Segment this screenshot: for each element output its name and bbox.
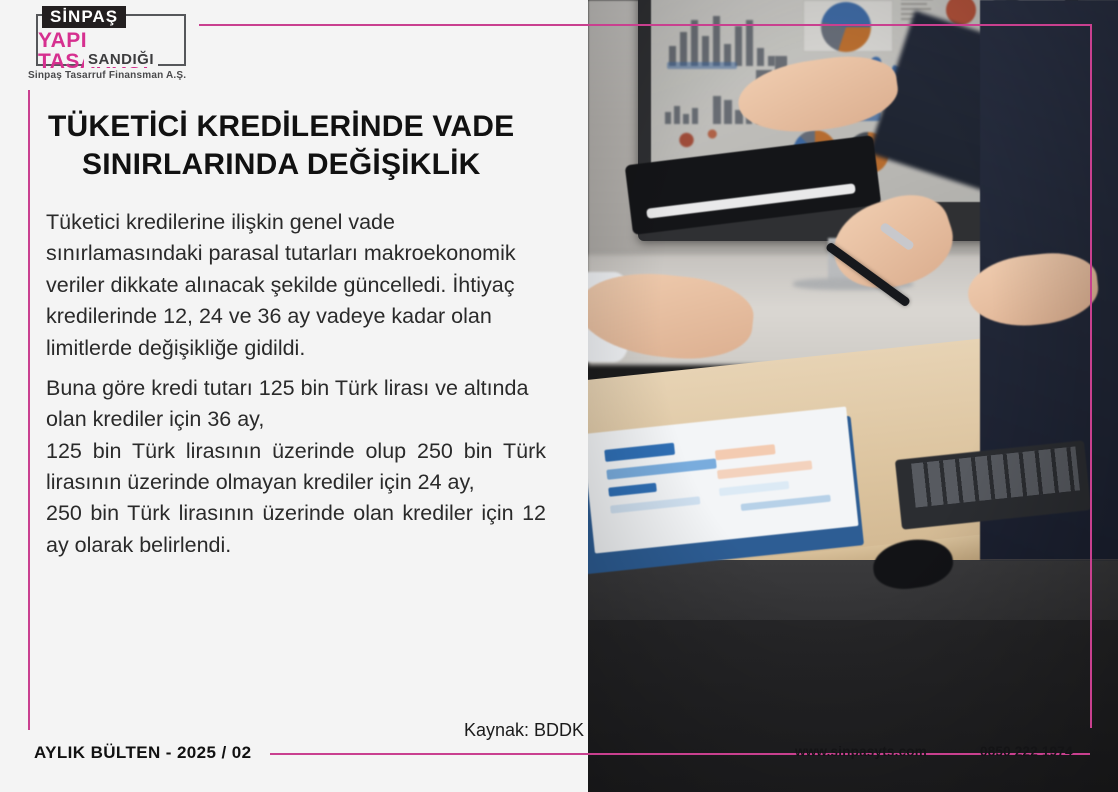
sinpas-logo: SİNPAŞ YAPI TASARRUF SANDIĞI Sinpaş Tasa… [28,10,198,82]
body-paragraph-2b: 125 bin Türk lirasının üzerinde olup 250… [46,436,546,499]
accent-line-right [1090,24,1092,728]
footer-website[interactable]: www.sinpasyts.com [795,744,927,759]
body-paragraph-1: Tüketici kredilerine ilişkin genel vade … [46,207,546,364]
office-desk-photo [588,0,1118,792]
source-label: Kaynak: BDDK [384,720,584,741]
bulletin-label: AYLIK BÜLTEN - 2025 / 02 [34,743,251,763]
footer-phone[interactable]: 0850 222 1974 [980,744,1073,759]
accent-line-bottom [270,753,1090,755]
photo-vignette [588,0,1118,792]
body-text: Tüketici kredilerine ilişkin genel vade … [46,207,546,561]
bulletin-slide: SİNPAŞ YAPI TASARRUF SANDIĞI Sinpaş Tasa… [0,0,1118,792]
page-title-line-2: SINIRLARINDA DEĞİŞİKLİK [48,146,568,184]
page-title: TÜKETİCİ KREDİLERİNDE VADE SINIRLARINDA … [48,108,568,185]
accent-line-left [28,90,30,730]
page-title-line-1: TÜKETİCİ KREDİLERİNDE VADE [48,110,514,143]
accent-line-top [199,24,1092,26]
logo-sandigi-text: SANDIĞI [84,52,158,67]
logo-sinpas-text: SİNPAŞ [42,6,126,28]
body-paragraph-2c: 250 bin Türk lirasının üzerinde olan kre… [46,498,546,561]
body-paragraph-2a: Buna göre kredi tutarı 125 bin Türk lira… [46,373,546,436]
logo-subtitle: Sinpaş Tasarruf Finansman A.Ş. [28,70,186,81]
